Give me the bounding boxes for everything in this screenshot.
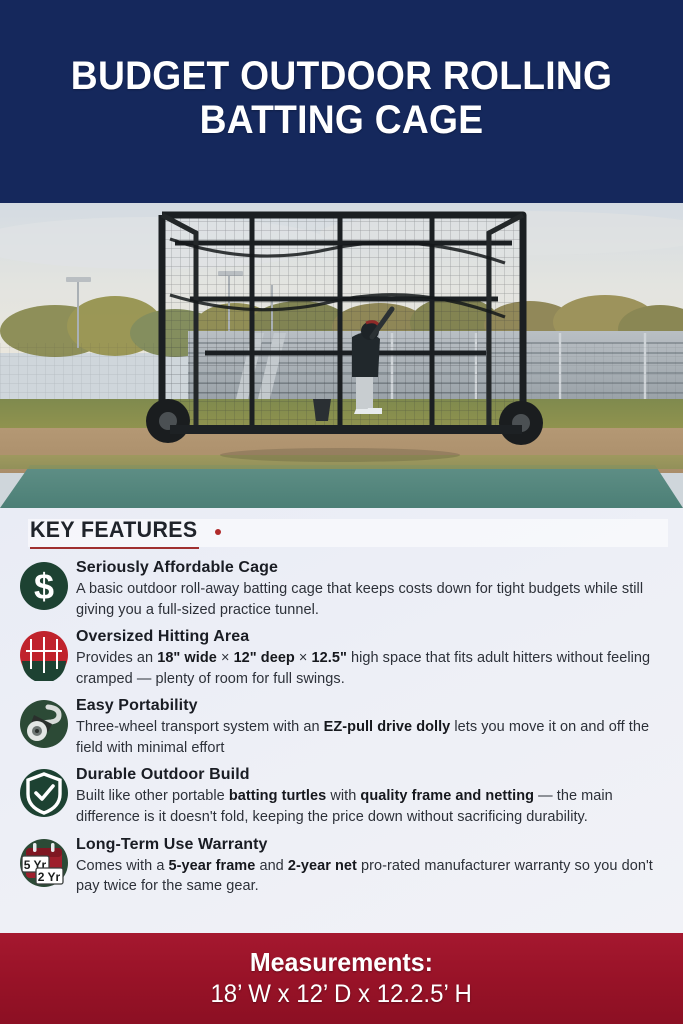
feature-title: Seriously Affordable Cage: [76, 558, 667, 578]
feature-text: Built like other portable batting turtle…: [76, 786, 667, 827]
measurements-footer: Measurements: 18’ W x 12’ D x 12.2.5’ H: [0, 933, 683, 1024]
feature-text: Three-wheel transport system with an EZ-…: [76, 717, 667, 758]
feature-text: Comes with a 5-year frame and 2-year net…: [76, 856, 667, 897]
warranty-label-2: 2 Yr: [38, 870, 61, 884]
feature-text: Provides an 18" wide × 12" deep × 12.5" …: [76, 648, 667, 689]
feature-body: Easy Portability Three-wheel transport s…: [76, 695, 667, 758]
feature-title: Oversized Hitting Area: [76, 627, 667, 647]
feature-body: Durable Outdoor Build Built like other p…: [76, 764, 667, 827]
feature-item-warranty: 5 Yr 2 Yr Long-Term Use Warranty Comes w…: [0, 834, 683, 897]
shield-check-icon: [18, 767, 70, 819]
feature-text: A basic outdoor roll-away batting cage t…: [76, 579, 667, 620]
key-features-panel: KEY FEATURES $ Seriously Affordable Cage…: [0, 508, 683, 933]
feature-item-affordable: $ Seriously Affordable Cage A basic outd…: [0, 557, 683, 620]
feature-body: Seriously Affordable Cage A basic outdoo…: [76, 557, 667, 620]
feature-item-portability: Easy Portability Three-wheel transport s…: [0, 695, 683, 758]
key-features-title: KEY FEATURES: [30, 517, 198, 547]
dollar-sign-icon: $: [18, 560, 70, 612]
feature-body: Oversized Hitting Area Provides an 18" w…: [76, 626, 667, 689]
feature-item-durable-build: Durable Outdoor Build Built like other p…: [0, 764, 683, 827]
product-photo: [0, 203, 683, 508]
measurements-label: Measurements:: [250, 948, 433, 978]
feature-body: Long-Term Use Warranty Comes with a 5-ye…: [76, 834, 667, 897]
hand-truck-dolly-icon: [18, 698, 70, 750]
key-features-underline: [30, 547, 199, 549]
svg-text:$: $: [34, 566, 54, 607]
poster-root: BUDGET OUTDOOR ROLLING BATTING CAGE: [0, 0, 683, 1024]
feature-title: Durable Outdoor Build: [76, 765, 667, 785]
baseball-field-icon: [18, 629, 70, 681]
key-features-header: KEY FEATURES: [0, 517, 683, 553]
red-dot-icon: [215, 529, 221, 535]
feature-title: Easy Portability: [76, 696, 667, 716]
feature-item-hitting-area: Oversized Hitting Area Provides an 18" w…: [0, 626, 683, 689]
header-banner: BUDGET OUTDOOR ROLLING BATTING CAGE: [0, 0, 683, 203]
key-features-title-wrap: KEY FEATURES: [30, 517, 221, 547]
measurements-value: 18’ W x 12’ D x 12.2.5’ H: [211, 979, 472, 1009]
product-photo-illustration: [0, 203, 683, 508]
warranty-calendar-icon: 5 Yr 2 Yr: [18, 837, 70, 889]
page-title: BUDGET OUTDOOR ROLLING BATTING CAGE: [24, 55, 659, 141]
feature-title: Long-Term Use Warranty: [76, 835, 667, 855]
